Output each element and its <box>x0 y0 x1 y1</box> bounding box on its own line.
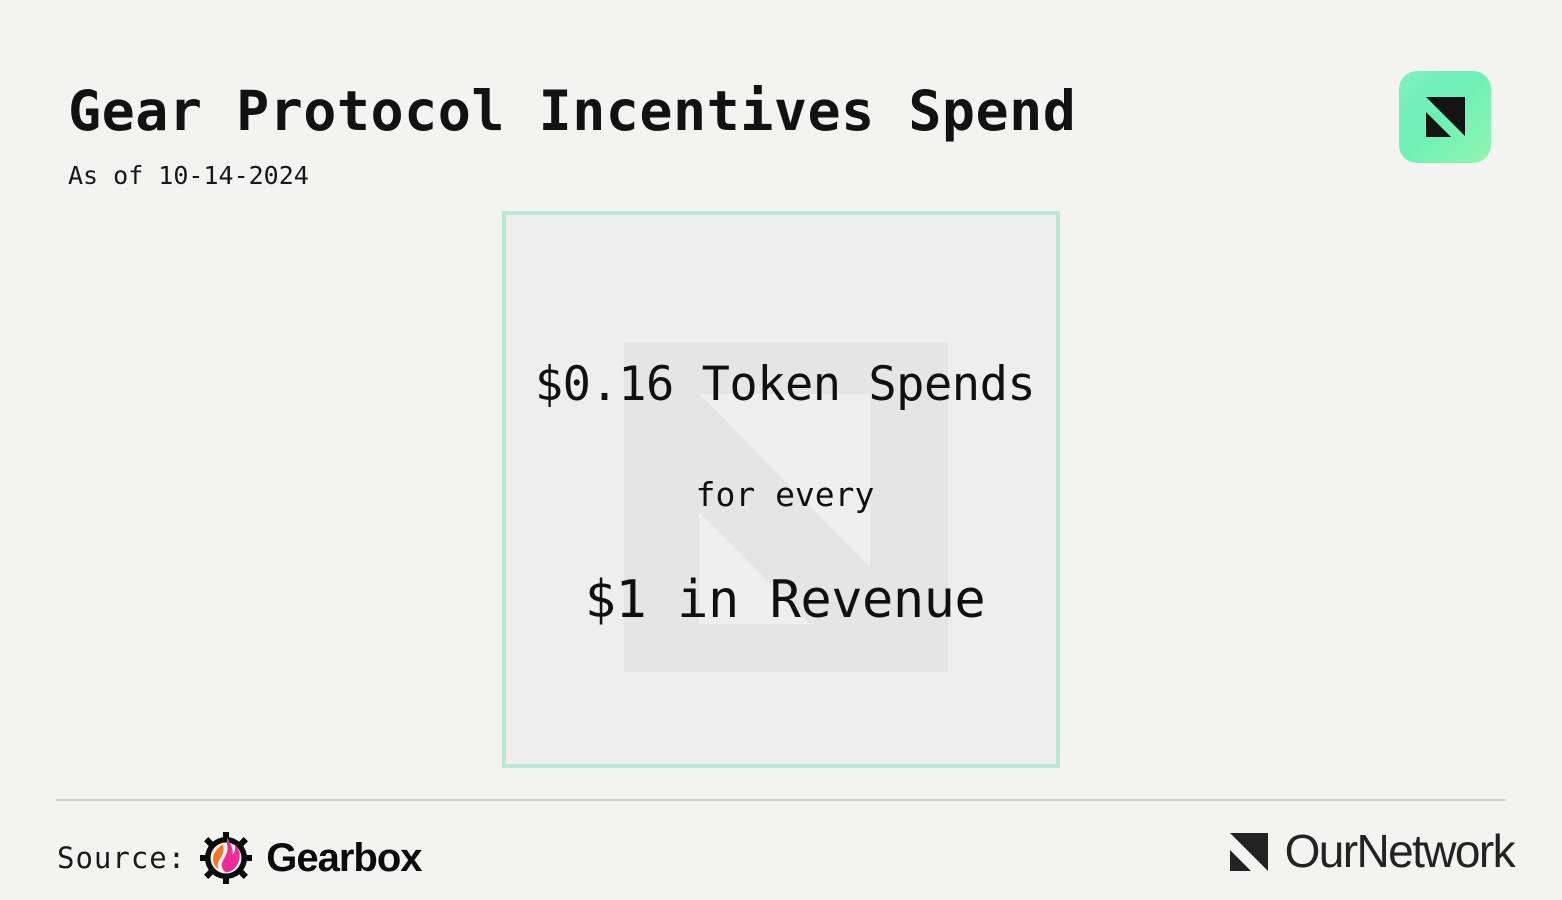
ournetwork-badge-icon <box>1399 71 1491 163</box>
stat-numerator: $0.16 Token Spends <box>506 357 1064 412</box>
source-label: Source: <box>57 841 186 875</box>
ournetwork-triangles-icon <box>1226 827 1274 875</box>
footer: Source: Gearbox <box>0 806 1562 900</box>
ournetwork-logo-icon <box>1399 71 1491 163</box>
stat-connector-label: for every <box>506 412 1064 514</box>
as-of-date-label: As of 10-14-2024 <box>68 139 1076 190</box>
gearbox-gear-icon <box>200 832 252 884</box>
source-block: Source: Gearbox <box>57 832 422 884</box>
page-title: Gear Protocol Incentives Spend <box>68 84 1076 139</box>
ournetwork-wordmark: OurNetwork <box>1285 824 1514 878</box>
footer-divider <box>56 799 1506 801</box>
gearbox-wordmark: Gearbox <box>266 836 421 881</box>
stat-card: $0.16 Token Spends for every $1 in Reven… <box>502 211 1060 768</box>
ournetwork-brand-block: OurNetwork <box>1226 824 1514 878</box>
stat-lines: $0.16 Token Spends for every $1 in Reven… <box>506 215 1064 772</box>
ournetwork-mark-icon <box>1226 827 1274 875</box>
gearbox-flame-gear-icon <box>200 832 252 884</box>
title-block: Gear Protocol Incentives Spend As of 10-… <box>68 84 1076 190</box>
header: Gear Protocol Incentives Spend As of 10-… <box>0 0 1562 210</box>
stat-denominator: $1 in Revenue <box>506 514 1064 630</box>
